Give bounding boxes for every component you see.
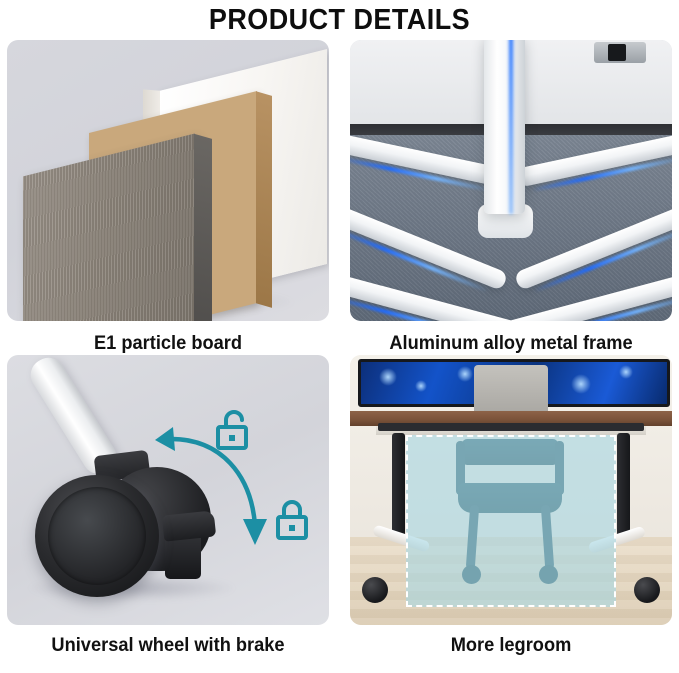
detail-cell-metal-frame: Aluminum alloy metal frame	[343, 40, 679, 355]
lock-icon	[273, 497, 313, 545]
bokeh-dot	[571, 374, 591, 394]
bokeh-dot	[619, 365, 633, 379]
caster-wheel	[35, 475, 159, 597]
led-glow-icon	[509, 40, 513, 214]
image-universal-wheel	[7, 355, 329, 625]
legroom-highlight-overlay	[406, 435, 616, 607]
caption-metal-frame: Aluminum alloy metal frame	[356, 321, 665, 355]
frame-monitor-base	[594, 42, 646, 63]
unlock-icon	[213, 407, 253, 455]
page-title: PRODUCT DETAILS	[24, 0, 655, 37]
board-edge-oak	[256, 91, 272, 308]
bokeh-dot	[415, 380, 427, 392]
board-sample-gray	[23, 134, 195, 321]
frame-vertical-post	[484, 40, 525, 214]
image-particle-board	[7, 40, 329, 321]
desk-crossbar	[378, 423, 644, 431]
caption-universal-wheel: Universal wheel with brake	[13, 625, 322, 657]
desk-caster-left	[362, 577, 388, 603]
desk-caster-right	[634, 577, 660, 603]
board-edge-gray	[194, 134, 212, 321]
image-more-legroom	[350, 355, 672, 625]
bokeh-dot	[457, 366, 473, 382]
details-grid: E1 particle board	[0, 40, 679, 657]
caption-particle-board: E1 particle board	[13, 321, 322, 355]
bokeh-dot	[379, 368, 397, 386]
detail-cell-more-legroom: More legroom	[343, 355, 679, 657]
detail-cell-universal-wheel: Universal wheel with brake	[0, 355, 336, 657]
desk-leg-post-right	[617, 433, 630, 538]
desk-leg-post-left	[392, 433, 405, 538]
laptop	[474, 365, 548, 415]
caption-more-legroom: More legroom	[356, 625, 665, 657]
image-metal-frame	[350, 40, 672, 321]
detail-cell-particle-board: E1 particle board	[0, 40, 336, 355]
